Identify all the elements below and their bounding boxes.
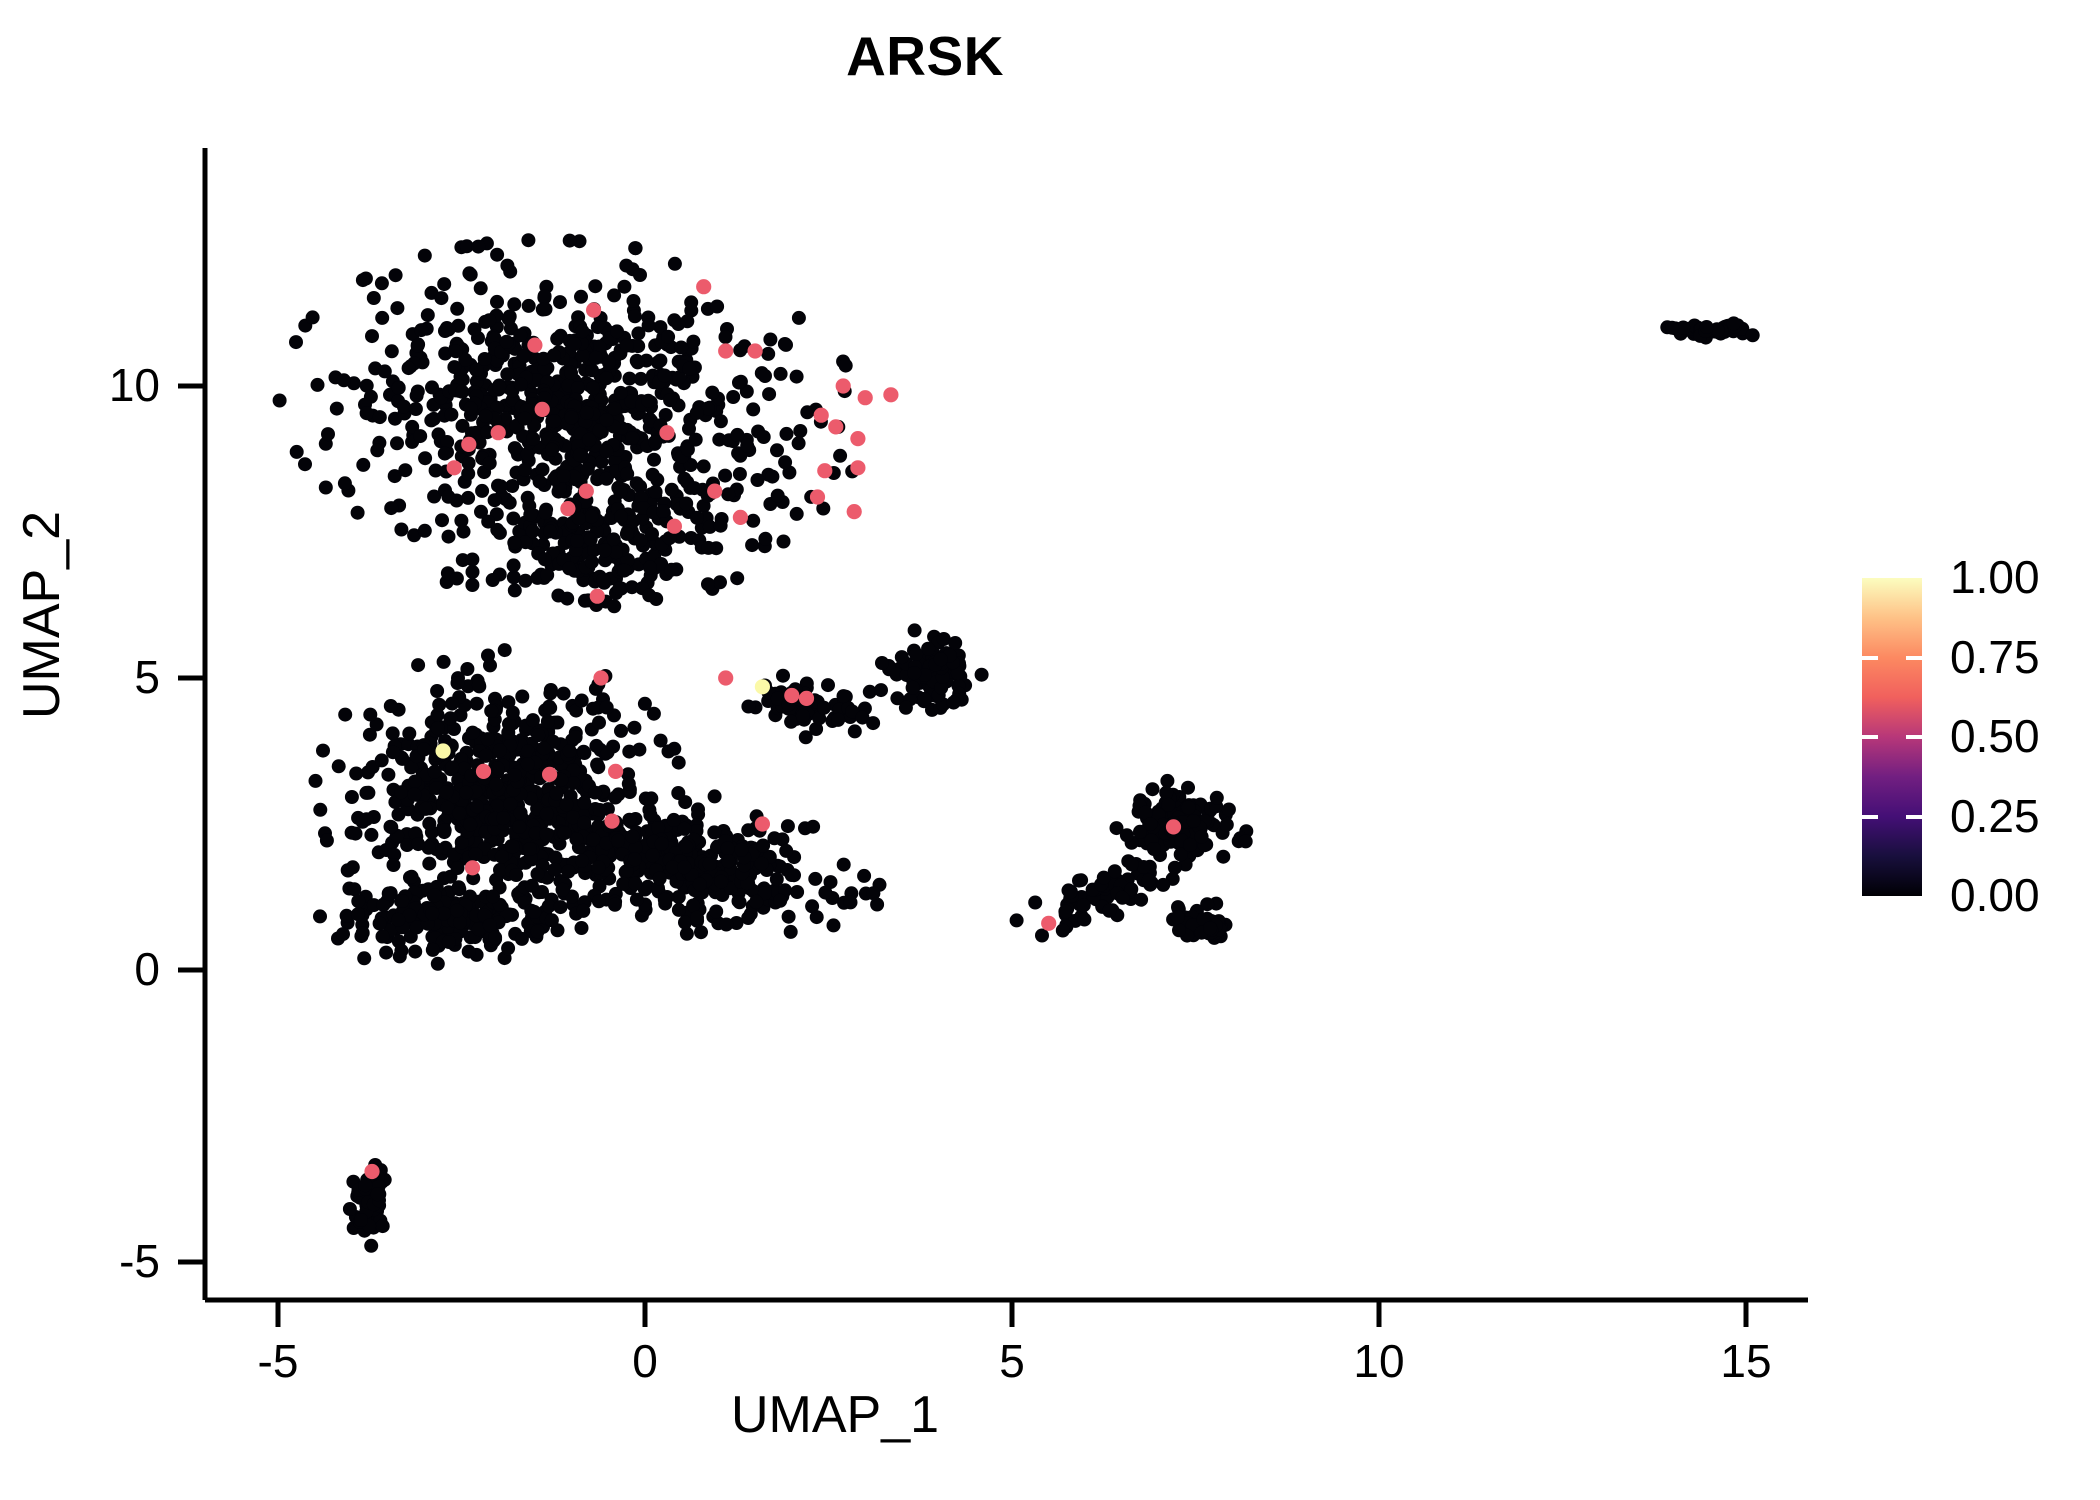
- data-point: [721, 841, 735, 855]
- data-point: [577, 796, 591, 810]
- data-point: [599, 371, 613, 385]
- data-point: [580, 406, 594, 420]
- data-point: [411, 339, 425, 353]
- data-point: [653, 872, 667, 886]
- legend-label: 0.75: [1950, 630, 2040, 684]
- data-point: [690, 406, 704, 420]
- data-point: [431, 721, 445, 735]
- data-point: [515, 932, 529, 946]
- data-point: [627, 294, 641, 308]
- data-point: [575, 694, 589, 708]
- data-point: [384, 820, 398, 834]
- data-point: [543, 686, 557, 700]
- data-point-highlighted: [850, 460, 865, 475]
- data-point: [563, 234, 577, 248]
- data-point: [623, 372, 637, 386]
- data-point: [643, 808, 657, 822]
- data-point: [481, 515, 495, 529]
- data-point: [311, 378, 325, 392]
- data-point: [765, 470, 779, 484]
- data-point: [509, 868, 523, 882]
- data-point: [790, 370, 804, 384]
- data-point: [831, 713, 845, 727]
- data-point: [411, 658, 425, 672]
- data-point: [531, 925, 545, 939]
- data-point: [1077, 913, 1091, 927]
- data-point: [367, 291, 381, 305]
- data-point: [1160, 774, 1174, 788]
- data-point: [462, 945, 476, 959]
- data-point: [337, 373, 351, 387]
- data-point: [719, 330, 733, 344]
- data-point-highlighted: [696, 279, 711, 294]
- data-point: [351, 894, 365, 908]
- x-tick-label: 15: [1666, 1334, 1826, 1388]
- data-point: [378, 364, 392, 378]
- y-tick-label: 10: [0, 358, 160, 412]
- data-point: [351, 506, 365, 520]
- data-point: [564, 411, 578, 425]
- data-point: [654, 734, 668, 748]
- data-point: [349, 767, 363, 781]
- data-point: [461, 491, 475, 505]
- data-point: [777, 535, 791, 549]
- data-point: [531, 728, 545, 742]
- data-point: [646, 468, 660, 482]
- data-point: [735, 843, 749, 857]
- x-axis-title: UMAP_1: [645, 1385, 1025, 1445]
- data-point: [456, 419, 470, 433]
- data-point: [390, 301, 404, 315]
- data-point: [667, 813, 681, 827]
- data-point: [370, 443, 384, 457]
- data-point: [588, 786, 602, 800]
- data-point: [758, 532, 772, 546]
- data-point: [386, 745, 400, 759]
- data-point: [908, 623, 922, 637]
- data-point: [581, 462, 595, 476]
- data-point: [567, 337, 581, 351]
- data-point: [397, 400, 411, 414]
- data-point: [607, 288, 621, 302]
- data-point: [705, 386, 719, 400]
- data-point: [895, 650, 909, 664]
- data-point: [733, 467, 747, 481]
- data-point: [625, 431, 639, 445]
- data-point: [541, 715, 555, 729]
- data-point: [360, 812, 374, 826]
- legend-label: 0.25: [1950, 789, 2040, 843]
- data-point: [371, 1187, 385, 1201]
- data-point: [1700, 320, 1714, 334]
- data-point: [818, 886, 832, 900]
- data-point: [486, 889, 500, 903]
- data-point: [392, 381, 406, 395]
- data-point-highlighted: [461, 437, 476, 452]
- data-point: [483, 918, 497, 932]
- data-point: [375, 276, 389, 290]
- data-point: [482, 313, 496, 327]
- data-point: [697, 459, 711, 473]
- data-point: [384, 501, 398, 515]
- legend-label: 0.50: [1950, 709, 2040, 763]
- x-axis-ticks: [278, 1300, 1746, 1327]
- data-point: [543, 524, 557, 538]
- data-point: [756, 839, 770, 853]
- data-point: [628, 852, 642, 866]
- data-point: [507, 536, 521, 550]
- data-point: [599, 444, 613, 458]
- data-point: [687, 481, 701, 495]
- data-point: [592, 860, 606, 874]
- data-point: [574, 290, 588, 304]
- data-point: [550, 787, 564, 801]
- data-point: [848, 724, 862, 738]
- data-point: [346, 860, 360, 874]
- data-point-highlighted: [659, 425, 674, 440]
- y-tick-label: -5: [0, 1234, 160, 1288]
- data-point: [522, 299, 536, 313]
- data-point: [776, 669, 790, 683]
- data-point: [563, 744, 577, 758]
- data-point: [627, 721, 641, 735]
- data-point: [701, 541, 715, 555]
- data-point: [874, 683, 888, 697]
- data-point: [733, 895, 747, 909]
- data-point-highlighted: [476, 764, 491, 779]
- data-point: [907, 666, 921, 680]
- data-point: [496, 811, 510, 825]
- data-point: [1222, 803, 1236, 817]
- data-point: [713, 575, 727, 589]
- data-point: [1195, 830, 1209, 844]
- data-point: [488, 931, 502, 945]
- data-point-highlighted: [850, 431, 865, 446]
- data-point: [428, 765, 442, 779]
- data-point: [679, 497, 693, 511]
- data-point: [440, 435, 454, 449]
- data-point: [351, 907, 365, 921]
- data-point: [806, 820, 820, 834]
- data-point: [1187, 814, 1201, 828]
- data-point: [447, 360, 461, 374]
- data-point: [866, 886, 880, 900]
- data-point: [521, 757, 535, 771]
- data-point: [598, 543, 612, 557]
- data-point: [493, 743, 507, 757]
- data-point: [506, 706, 520, 720]
- data-point: [316, 744, 330, 758]
- data-point: [356, 926, 370, 940]
- data-point: [730, 428, 744, 442]
- data-point: [686, 335, 700, 349]
- data-point: [394, 785, 408, 799]
- data-point: [424, 413, 438, 427]
- data-point: [1220, 818, 1234, 832]
- data-point: [628, 877, 642, 891]
- data-point: [507, 558, 521, 572]
- data-point: [921, 642, 935, 656]
- data-point: [470, 697, 484, 711]
- data-point: [658, 893, 672, 907]
- data-point: [360, 379, 374, 393]
- data-point: [533, 475, 547, 489]
- data-point: [575, 324, 589, 338]
- legend-label: 0.00: [1950, 868, 2040, 922]
- data-point: [289, 335, 303, 349]
- data-point: [543, 701, 557, 715]
- data-point-highlighted: [608, 764, 623, 779]
- data-point: [391, 913, 405, 927]
- data-point: [770, 443, 784, 457]
- y-axis-title: UMAP_2: [12, 465, 72, 765]
- data-point: [730, 571, 744, 585]
- data-point: [298, 457, 312, 471]
- data-point-highlighted: [858, 390, 873, 405]
- data-point: [1108, 864, 1122, 878]
- data-point: [719, 918, 733, 932]
- data-point: [500, 335, 514, 349]
- data-point: [909, 647, 923, 661]
- data-point: [592, 716, 606, 730]
- data-point: [418, 524, 432, 538]
- data-point: [290, 445, 304, 459]
- data-point: [441, 490, 455, 504]
- data-point: [808, 872, 822, 886]
- data-point: [349, 827, 363, 841]
- data-point: [572, 511, 586, 525]
- data-point: [526, 432, 540, 446]
- data-point: [507, 297, 521, 311]
- data-point: [584, 510, 598, 524]
- data-point-highlighted: [364, 1164, 379, 1179]
- data-point-highlighted: [527, 338, 542, 353]
- data-point: [422, 857, 436, 871]
- data-point: [402, 727, 416, 741]
- data-point: [622, 813, 636, 827]
- data-point: [451, 676, 465, 690]
- data-point: [758, 369, 772, 383]
- data-point: [394, 523, 408, 537]
- data-point: [770, 872, 784, 886]
- data-point: [426, 943, 440, 957]
- x-tick-label: 5: [932, 1334, 1092, 1388]
- data-point: [833, 449, 847, 463]
- data-point: [321, 427, 335, 441]
- data-point: [430, 684, 444, 698]
- data-point: [379, 946, 393, 960]
- data-point: [363, 708, 377, 722]
- data-point: [545, 913, 559, 927]
- data-point: [589, 351, 603, 365]
- data-point: [628, 241, 642, 255]
- data-point: [356, 273, 370, 287]
- data-point-highlighted: [707, 484, 722, 499]
- data-point: [364, 828, 378, 842]
- data-point: [1183, 838, 1197, 852]
- legend-tick-mark: [1862, 815, 1878, 819]
- data-point: [608, 791, 622, 805]
- data-point: [714, 519, 728, 533]
- legend-label: 1.00: [1950, 550, 2040, 604]
- data-point: [975, 668, 989, 682]
- data-point: [538, 552, 552, 566]
- data-point: [394, 944, 408, 958]
- data-point: [508, 441, 522, 455]
- data-point: [514, 378, 528, 392]
- data-point: [539, 506, 553, 520]
- data-point: [611, 834, 625, 848]
- data-point: [642, 318, 656, 332]
- data-point: [690, 511, 704, 525]
- data-point: [347, 882, 361, 896]
- data-point: [395, 894, 409, 908]
- data-point: [571, 381, 585, 395]
- legend-tick-mark: [1906, 815, 1922, 819]
- data-point: [614, 510, 628, 524]
- data-point: [435, 513, 449, 527]
- data-point: [631, 355, 645, 369]
- data-point: [714, 875, 728, 889]
- data-point: [588, 279, 602, 293]
- data-point: [628, 309, 642, 323]
- data-point: [1665, 321, 1679, 335]
- data-point: [455, 385, 469, 399]
- data-point: [489, 777, 503, 791]
- data-point-highlighted: [718, 670, 733, 685]
- data-point: [419, 802, 433, 816]
- data-point: [491, 761, 505, 775]
- data-point: [780, 427, 794, 441]
- data-point-highlighted: [436, 743, 451, 758]
- data-point: [608, 402, 622, 416]
- data-point: [678, 916, 692, 930]
- data-point: [273, 394, 287, 408]
- data-point-highlighted: [836, 378, 851, 393]
- legend-tick-mark: [1862, 735, 1878, 739]
- data-point: [502, 312, 516, 326]
- data-point: [336, 927, 350, 941]
- data-point: [785, 868, 799, 882]
- data-point: [947, 696, 961, 710]
- data-point: [483, 456, 497, 470]
- data-point: [409, 402, 423, 416]
- data-point-highlighted: [1041, 916, 1056, 931]
- data-point-highlighted: [667, 519, 682, 534]
- data-point-highlighted: [542, 767, 557, 782]
- data-point: [451, 861, 465, 875]
- data-point: [384, 699, 398, 713]
- data-point: [614, 724, 628, 738]
- data-point: [513, 328, 527, 342]
- data-point: [449, 344, 463, 358]
- data-point: [488, 493, 502, 507]
- data-point: [376, 930, 390, 944]
- data-point: [472, 678, 486, 692]
- data-point: [1727, 316, 1741, 330]
- data-point: [402, 361, 416, 375]
- data-point: [514, 806, 528, 820]
- data-point-highlighted: [755, 679, 770, 694]
- data-point: [796, 709, 810, 723]
- data-point: [844, 895, 858, 909]
- data-point: [800, 405, 814, 419]
- data-point: [773, 894, 787, 908]
- data-point: [793, 424, 807, 438]
- data-point-highlighted: [586, 303, 601, 318]
- data-point: [408, 775, 422, 789]
- data-point: [338, 476, 352, 490]
- data-point: [501, 941, 515, 955]
- data-point: [682, 362, 696, 376]
- data-point: [721, 854, 735, 868]
- data-point: [445, 761, 459, 775]
- data-point-highlighted: [579, 484, 594, 499]
- data-point: [827, 918, 841, 932]
- data-point: [732, 376, 746, 390]
- data-point: [703, 857, 717, 871]
- data-point: [647, 707, 661, 721]
- data-point: [671, 317, 685, 331]
- data-point: [465, 553, 479, 567]
- data-point: [591, 760, 605, 774]
- data-point-highlighted: [733, 510, 748, 525]
- data-point: [1746, 328, 1760, 342]
- data-point-highlighted: [799, 691, 814, 706]
- data-point: [749, 895, 763, 909]
- data-point: [600, 701, 614, 715]
- data-point: [536, 463, 550, 477]
- data-point: [642, 588, 656, 602]
- data-point: [575, 854, 589, 868]
- data-point: [442, 935, 456, 949]
- data-point: [463, 818, 477, 832]
- data-point: [405, 870, 419, 884]
- data-point: [1159, 786, 1173, 800]
- data-point: [411, 385, 425, 399]
- data-point: [622, 745, 636, 759]
- data-point-highlighted: [593, 670, 608, 685]
- data-point: [622, 777, 636, 791]
- data-point: [382, 887, 396, 901]
- data-point: [437, 277, 451, 291]
- data-point: [608, 898, 622, 912]
- data-point: [667, 742, 681, 756]
- data-point: [459, 786, 473, 800]
- data-point: [1134, 893, 1148, 907]
- data-point: [1028, 896, 1042, 910]
- data-point-highlighted: [1166, 819, 1181, 834]
- data-point: [653, 354, 667, 368]
- data-point: [389, 268, 403, 282]
- data-point: [508, 583, 522, 597]
- data-point: [586, 702, 600, 716]
- data-point: [684, 295, 698, 309]
- data-point-highlighted: [748, 343, 763, 358]
- data-point: [562, 865, 576, 879]
- data-point: [762, 387, 776, 401]
- data-point: [586, 381, 600, 395]
- data-point: [630, 893, 644, 907]
- data-point: [610, 324, 624, 338]
- data-point: [1171, 910, 1185, 924]
- data-point: [582, 433, 596, 447]
- legend-tick-mark: [1906, 656, 1922, 660]
- data-point: [457, 525, 471, 539]
- data-point: [343, 1202, 357, 1216]
- data-point: [1147, 842, 1161, 856]
- data-point: [486, 573, 500, 587]
